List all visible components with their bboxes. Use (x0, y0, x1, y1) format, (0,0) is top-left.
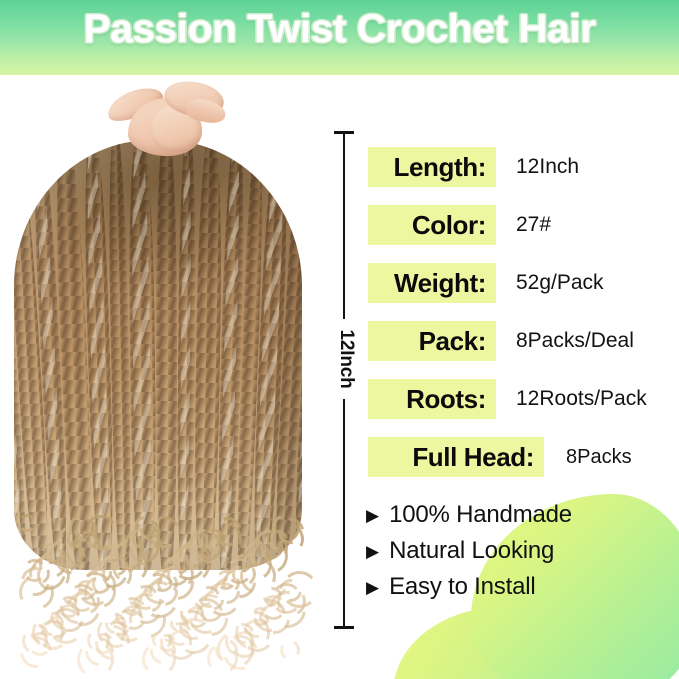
product-photo (4, 84, 310, 656)
spec-value-weight: 52g/Pack (516, 263, 604, 303)
spec-row-length: Length: 12Inch (368, 147, 668, 205)
feature-label-handmade: 100% Handmade (389, 501, 572, 529)
spec-label-roots: Roots: (368, 379, 496, 419)
header-banner: Passion Twist Crochet Hair (0, 0, 679, 75)
feature-item-easy-install: ▶ Easy to Install (366, 569, 666, 605)
spec-label-weight: Weight: (368, 263, 496, 303)
measurement-cap-bottom (334, 626, 354, 629)
triangle-bullet-icon: ▶ (366, 507, 379, 524)
measurement-label: 12Inch (329, 319, 363, 399)
spec-row-full-head: Full Head: 8Packs (368, 437, 668, 495)
spec-value-full-head: 8Packs (566, 437, 632, 477)
product-infographic: Passion Twist Crochet Hair 12Inch Length… (0, 0, 679, 679)
hair-curly-tips (4, 514, 310, 660)
hair-bundle (14, 140, 302, 570)
spec-row-color: Color: 27# (368, 205, 668, 263)
feature-item-natural-looking: ▶ Natural Looking (366, 533, 666, 569)
spec-row-roots: Roots: 12Roots/Pack (368, 379, 668, 437)
spec-label-full-head: Full Head: (368, 437, 544, 477)
triangle-bullet-icon: ▶ (366, 579, 379, 596)
spec-value-length: 12Inch (516, 147, 579, 187)
spec-row-weight: Weight: 52g/Pack (368, 263, 668, 321)
length-measurement-bracket: 12Inch (330, 130, 360, 630)
spec-value-pack: 8Packs/Deal (516, 321, 634, 361)
triangle-bullet-icon: ▶ (366, 543, 379, 560)
feature-item-handmade: ▶ 100% Handmade (366, 497, 666, 533)
feature-label-easy-install: Easy to Install (389, 573, 535, 601)
spec-value-color: 27# (516, 205, 551, 245)
spec-label-color: Color: (368, 205, 496, 245)
spec-value-roots: 12Roots/Pack (516, 379, 647, 419)
hand-holding-hair-icon (112, 86, 230, 164)
spec-label-length: Length: (368, 147, 496, 187)
feature-label-natural-looking: Natural Looking (389, 537, 554, 565)
feature-list: ▶ 100% Handmade ▶ Natural Looking ▶ Easy… (366, 497, 666, 605)
specification-table: Length: 12Inch Color: 27# Weight: 52g/Pa… (368, 147, 668, 495)
spec-row-pack: Pack: 8Packs/Deal (368, 321, 668, 379)
spec-label-pack: Pack: (368, 321, 496, 361)
page-title: Passion Twist Crochet Hair (0, 0, 679, 58)
